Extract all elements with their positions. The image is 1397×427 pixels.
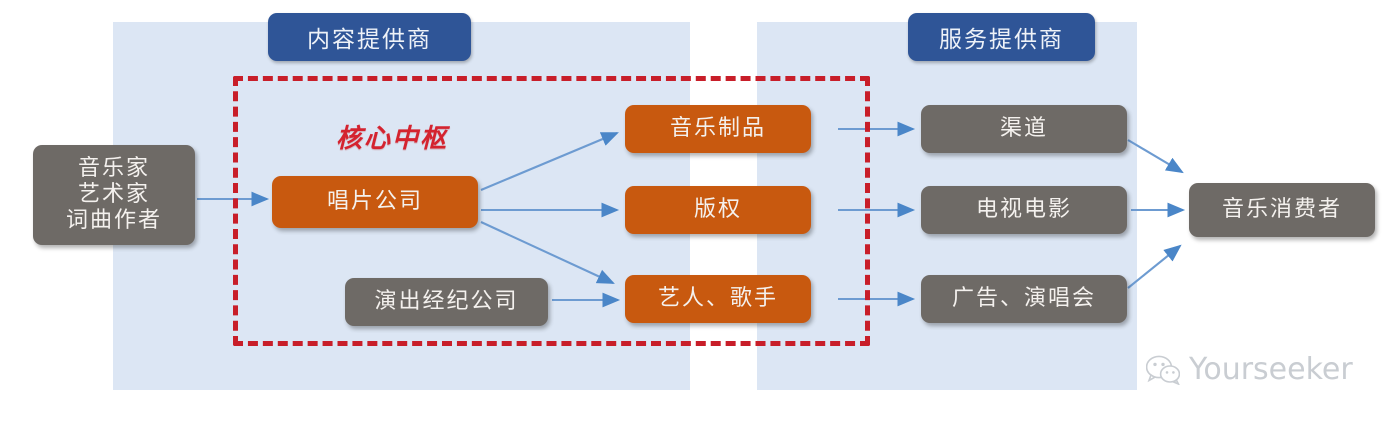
watermark-text: Yourseeker [1189,352,1353,387]
node-creators[interactable]: 音乐家 艺术家 词曲作者 [33,145,195,245]
node-tv-film-text: 电视电影 [976,197,1072,223]
node-artist-singer[interactable]: 艺人、歌手 [625,275,811,323]
wechat-icon [1146,355,1180,385]
node-agency-text: 演出经纪公司 [374,289,518,315]
node-channel-text: 渠道 [1000,116,1048,142]
node-creators-line-2: 艺术家 [78,182,150,208]
node-channel[interactable]: 渠道 [921,105,1127,153]
node-artist-singer-text: 艺人、歌手 [658,286,778,312]
node-music-product-text: 音乐制品 [670,116,766,142]
diagram-canvas: 核心中枢 内容提供商 服务提供商 音乐家 艺术家 词曲作者 唱片公司 演出经纪公… [0,0,1397,427]
header-content-provider-label: 内容提供商 [307,20,432,54]
node-music-consumer-text: 音乐消费者 [1222,197,1342,223]
header-content-provider[interactable]: 内容提供商 [268,13,471,61]
watermark: Yourseeker [1146,352,1353,387]
node-tv-film[interactable]: 电视电影 [921,186,1127,234]
node-copyright-text: 版权 [694,197,742,223]
node-music-consumer[interactable]: 音乐消费者 [1189,183,1375,237]
core-hub-label: 核心中枢 [336,118,448,155]
node-creators-line-3: 词曲作者 [66,208,162,234]
node-creators-line-1: 音乐家 [78,156,150,182]
node-music-product[interactable]: 音乐制品 [625,105,811,153]
node-ad-concert-text: 广告、演唱会 [952,286,1096,312]
node-copyright[interactable]: 版权 [625,186,811,234]
header-service-provider-label: 服务提供商 [939,20,1064,54]
node-label-company[interactable]: 唱片公司 [272,176,478,228]
node-label-company-text: 唱片公司 [327,189,423,215]
node-ad-concert[interactable]: 广告、演唱会 [921,275,1127,323]
header-service-provider[interactable]: 服务提供商 [908,13,1095,61]
node-agency[interactable]: 演出经纪公司 [345,278,548,326]
